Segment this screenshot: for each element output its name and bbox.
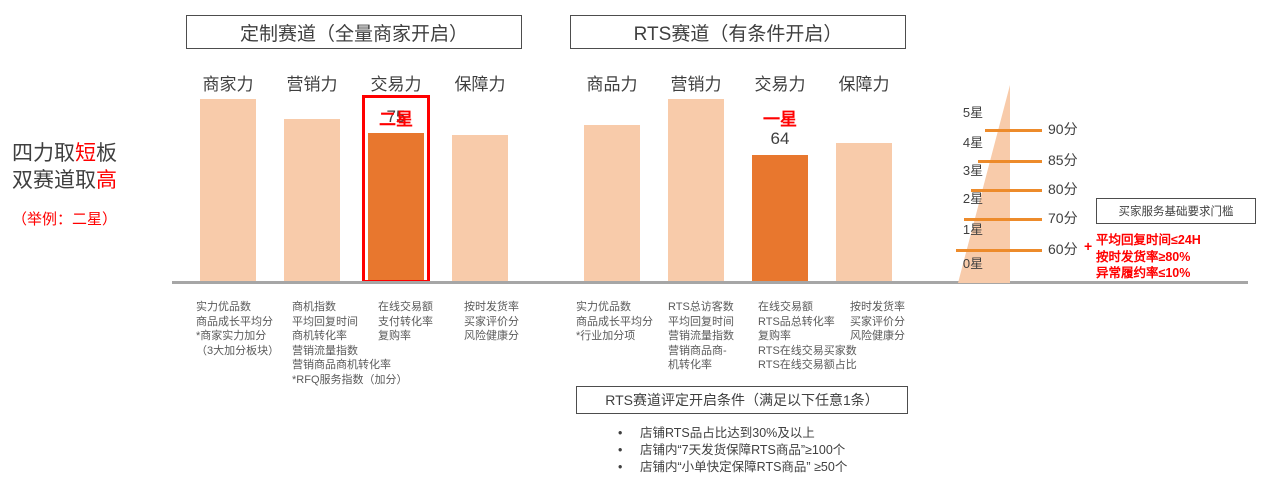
caption-line-2: 双赛道取高 [12, 167, 172, 194]
footnote-line: *RFQ服务指数（加分） [292, 373, 408, 388]
condition-item: •店铺RTS品占比达到30%及以上 [618, 425, 1038, 442]
bar-slot [668, 83, 724, 283]
threshold-requirement-item: 异常履约率≤10% [1096, 265, 1201, 282]
footnote-column-2-2: RTS总访客数平均回复时间营销流量指数营销商品商-机转化率 [668, 300, 734, 373]
bar-营销力[interactable] [284, 119, 340, 283]
footnote-line: 在线交易额 [378, 300, 433, 315]
bar-value-label: 64 [752, 129, 808, 149]
condition-item-label: 店铺内“7天发货保障RTS商品”≥100个 [640, 442, 845, 459]
footnote-line: 营销流量指数 [668, 329, 734, 344]
footnote-column-2-1: 实力优品数商品成长平均分*行业加分项 [576, 300, 653, 344]
caption-line-1: 四力取短板 [12, 140, 172, 167]
threshold-requirement-item: 按时发货率≥80% [1096, 249, 1201, 266]
footnote-line: 营销流量指数 [292, 344, 408, 359]
bar-保障力[interactable] [452, 135, 508, 283]
pyramid-score-label-4: 60分 [1048, 239, 1078, 259]
footnote-line: 商品成长平均分 [196, 315, 279, 330]
footnote-column-2-4: 按时发货率买家评价分风险健康分 [850, 300, 905, 344]
pyramid-tier-label-1: 4星 [950, 132, 996, 151]
rts-conditions-title-box: RTS赛道评定开启条件（满足以下任意1条） [576, 386, 908, 414]
condition-item: •店铺内“小单快定保障RTS商品” ≥50个 [618, 459, 1038, 476]
caption-line-1-part-a: 四力取 [12, 142, 75, 165]
bar-商家力[interactable] [200, 99, 256, 283]
caption-line-1-part-b: 板 [96, 142, 117, 165]
pyramid-tick-line-4 [956, 249, 1042, 252]
bar-slot [284, 83, 340, 283]
pyramid-tier-label-2: 3星 [950, 160, 996, 179]
footnote-line: 复购率 [378, 329, 433, 344]
bar-slot [584, 83, 640, 283]
pyramid-score-label-0: 90分 [1048, 119, 1078, 139]
pyramid-score-label-1: 85分 [1048, 150, 1078, 170]
panel-title-rts-track-label: RTS赛道（有条件开启） [634, 19, 843, 46]
bar-商品力[interactable] [584, 125, 640, 283]
footnote-line: （3大加分板块） [196, 344, 279, 359]
footnote-line: 机转化率 [668, 358, 734, 373]
pyramid-tick-line-3 [964, 218, 1042, 221]
panel-title-rts-track: RTS赛道（有条件开启） [570, 15, 906, 49]
footnote-column-1-1: 实力优品数商品成长平均分*商家实力加分（3大加分板块） [196, 300, 279, 358]
footnote-line: 复购率 [758, 329, 857, 344]
footnote-line: 按时发货率 [850, 300, 905, 315]
condition-item-label: 店铺内“小单快定保障RTS商品” ≥50个 [640, 459, 847, 476]
plus-icon: + [1084, 238, 1092, 254]
star-rating-label: 一星 [738, 105, 822, 130]
bar-交易力[interactable] [752, 155, 808, 283]
bars-custom-track: 75二星 [186, 83, 522, 283]
footnote-column-1-3: 在线交易额支付转化率复购率 [378, 300, 433, 344]
caption-line-1-highlight: 短 [75, 142, 96, 165]
footnote-line: 风险健康分 [850, 329, 905, 344]
footnote-line: 商品成长平均分 [576, 315, 653, 330]
bar-chart-rts-track: 64一星 [570, 83, 906, 283]
footnote-line: RTS在线交易买家数 [758, 344, 857, 359]
footnote-line: 风险健康分 [464, 329, 519, 344]
rts-conditions-list: •店铺RTS品占比达到30%及以上•店铺内“7天发货保障RTS商品”≥100个•… [618, 425, 1038, 476]
caption-line-2-highlight: 高 [96, 169, 117, 192]
bar-营销力[interactable] [668, 99, 724, 283]
footnote-line: RTS总访客数 [668, 300, 734, 315]
pyramid-tick-line-2 [971, 189, 1042, 192]
panel-title-custom-track: 定制赛道（全量商家开启） [186, 15, 522, 49]
footnote-column-1-4: 按时发货率买家评价分风险健康分 [464, 300, 519, 344]
caption-line-2-part-a: 双赛道取 [12, 169, 96, 192]
bar-保障力[interactable] [836, 143, 892, 283]
pyramid-tick-line-0 [985, 129, 1042, 132]
pyramid-tier-label-4: 1星 [950, 219, 996, 238]
pyramid-score-label-2: 80分 [1048, 179, 1078, 199]
threshold-requirement-item: 平均回复时间≤24H [1096, 232, 1201, 249]
pyramid-tier-label-0: 5星 [950, 102, 996, 121]
left-caption: 四力取短板 双赛道取高 （举例：二星） [12, 140, 172, 230]
footnote-line: 支付转化率 [378, 315, 433, 330]
buyer-service-threshold-box: 买家服务基础要求门槛 [1096, 198, 1256, 224]
bar-slot [836, 83, 892, 283]
footnote-column-2-3: 在线交易额RTS品总转化率复购率RTS在线交易买家数RTS在线交易额占比 [758, 300, 857, 373]
bar-slot [200, 83, 256, 283]
rts-conditions-title-label: RTS赛道评定开启条件（满足以下任意1条） [605, 390, 879, 410]
footnote-line: 实力优品数 [576, 300, 653, 315]
condition-item: •店铺内“7天发货保障RTS商品”≥100个 [618, 442, 1038, 459]
bar-slot [452, 83, 508, 283]
bullet-icon: • [618, 459, 640, 476]
pyramid-tier-label-5: 0星 [950, 253, 996, 272]
footnote-line: 实力优品数 [196, 300, 279, 315]
bars-rts-track: 64一星 [570, 83, 906, 283]
footnote-line: 营销商品商- [668, 344, 734, 359]
panel-title-custom-track-label: 定制赛道（全量商家开启） [240, 19, 468, 46]
footnote-line: *商家实力加分 [196, 329, 279, 344]
footnote-line: 在线交易额 [758, 300, 857, 315]
bullet-icon: • [618, 425, 640, 442]
footnote-line: 买家评价分 [464, 315, 519, 330]
footnote-line: 营销商品商机转化率 [292, 358, 408, 373]
buyer-service-threshold-label: 买家服务基础要求门槛 [1119, 203, 1234, 219]
highlight-outline-box [362, 95, 430, 283]
caption-example: （举例：二星） [12, 210, 172, 230]
footnote-line: 按时发货率 [464, 300, 519, 315]
condition-item-label: 店铺RTS品占比达到30%及以上 [640, 425, 815, 442]
bullet-icon: • [618, 442, 640, 459]
pyramid-tick-line-1 [978, 160, 1042, 163]
bar-chart-custom-track: 75二星 [186, 83, 522, 283]
footnote-line: RTS在线交易额占比 [758, 358, 857, 373]
footnote-line: RTS品总转化率 [758, 315, 857, 330]
threshold-requirements-list: 平均回复时间≤24H按时发货率≥80%异常履约率≤10% [1096, 232, 1201, 282]
footnote-line: 平均回复时间 [668, 315, 734, 330]
footnote-line: *行业加分项 [576, 329, 653, 344]
footnote-line: 买家评价分 [850, 315, 905, 330]
pyramid-score-label-3: 70分 [1048, 208, 1078, 228]
